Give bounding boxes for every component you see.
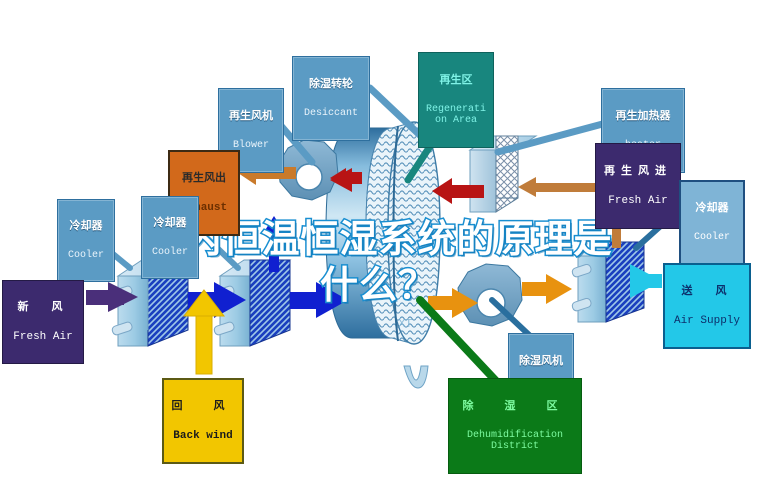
svg-text:XT: XT bbox=[398, 317, 412, 330]
label-back-wind: 回 风 Back wind bbox=[162, 378, 244, 464]
arrow-air-supply bbox=[630, 264, 662, 298]
label-regen-fresh-air-en: Fresh Air bbox=[598, 195, 678, 207]
diagram-canvas: XT bbox=[0, 0, 757, 488]
label-regen-blower-cn: 再生风机 bbox=[221, 110, 281, 122]
label-desiccant: 除湿转轮 Desiccant bbox=[292, 56, 370, 141]
label-cooler-right-en: Cooler bbox=[683, 232, 741, 243]
label-regeneration-fresh-air: 再生风进 Fresh Air bbox=[595, 143, 681, 229]
label-dehum-blower-cn: 除湿风机 bbox=[511, 355, 571, 367]
label-regen-area-cn: 再生区 bbox=[421, 74, 491, 86]
label-cooler-left-2-en: Cooler bbox=[144, 247, 196, 258]
label-cooler-left-1-cn: 冷却器 bbox=[60, 220, 112, 232]
label-fresh-air-in-cn: 新 风 bbox=[5, 301, 81, 313]
label-cooler-left-1: 冷却器 Cooler bbox=[57, 199, 115, 282]
label-dehum-district-en: Dehumidification District bbox=[451, 430, 579, 452]
label-air-supply-cn: 送 风 bbox=[667, 285, 747, 297]
label-cooler-left-1-en: Cooler bbox=[60, 250, 112, 261]
label-back-wind-cn: 回 风 bbox=[166, 400, 240, 412]
label-desiccant-en: Desiccant bbox=[295, 108, 367, 119]
label-desiccant-cn: 除湿转轮 bbox=[295, 78, 367, 90]
label-cooler-left-2: 冷却器 Cooler bbox=[141, 196, 199, 279]
label-regen-heater-cn: 再生加热器 bbox=[604, 110, 682, 122]
label-dehumidification-district: 除 湿 区 Dehumidification District bbox=[448, 378, 582, 474]
label-dehum-district-cn: 除 湿 区 bbox=[451, 400, 579, 412]
label-cooler-right-cn: 冷却器 bbox=[683, 202, 741, 214]
label-cooler-right: 冷却器 Cooler bbox=[679, 180, 745, 265]
label-fresh-air-in: 新 风 Fresh Air bbox=[2, 280, 84, 364]
label-back-wind-en: Back wind bbox=[166, 430, 240, 442]
label-fresh-air-in-en: Fresh Air bbox=[5, 331, 81, 343]
label-regeneration-area: 再生区 Regenerati on Area bbox=[418, 52, 494, 148]
label-cooler-left-2-cn: 冷却器 bbox=[144, 217, 196, 229]
label-regen-area-en: Regenerati on Area bbox=[421, 104, 491, 126]
label-air-supply: 送 风 Air Supply bbox=[663, 263, 751, 349]
label-air-supply-en: Air Supply bbox=[667, 315, 747, 327]
label-exhaust-cn: 再生风出 bbox=[172, 172, 236, 184]
arrow-dehumblower-to-cooler3 bbox=[522, 274, 572, 304]
label-regen-fresh-air-cn: 再生风进 bbox=[598, 165, 678, 177]
